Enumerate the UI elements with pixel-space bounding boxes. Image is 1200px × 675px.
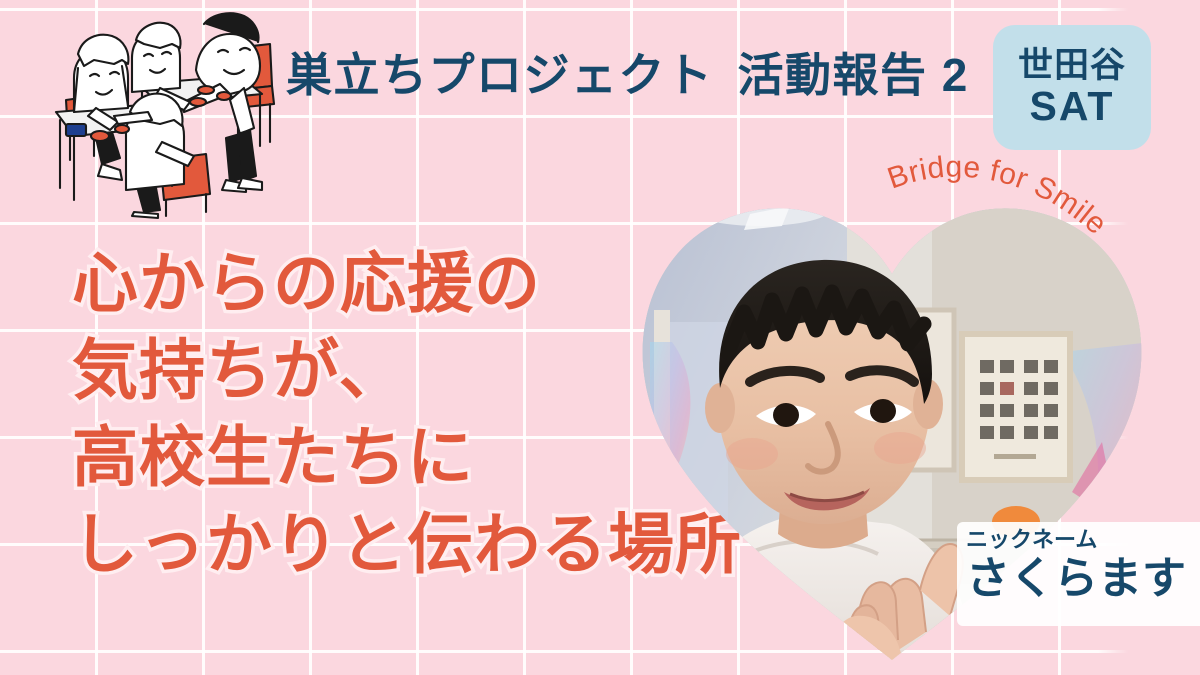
status-badge-setagaya-sat: 世田谷 SAT	[993, 25, 1151, 150]
thumbnail-canvas: 巣立ちプロジェクト活動報告 2 世田谷 SAT 心からの応援の 気持ちが、 高校…	[0, 0, 1200, 675]
page-title: 巣立ちプロジェクト活動報告 2	[286, 52, 969, 98]
badge-line-jp: 世田谷	[1018, 48, 1126, 85]
nickname-label: ニックネーム	[966, 528, 1200, 552]
nickname-value: さくらます	[966, 554, 1200, 605]
badge-line-en: SAT	[1030, 86, 1115, 127]
workshop-meeting-illustration	[34, 8, 282, 220]
nickname-panel: ニックネーム さくらます	[957, 522, 1200, 626]
title-main: 巣立ちプロジェクト	[286, 49, 714, 101]
title-sub: 活動報告 2	[738, 49, 969, 101]
